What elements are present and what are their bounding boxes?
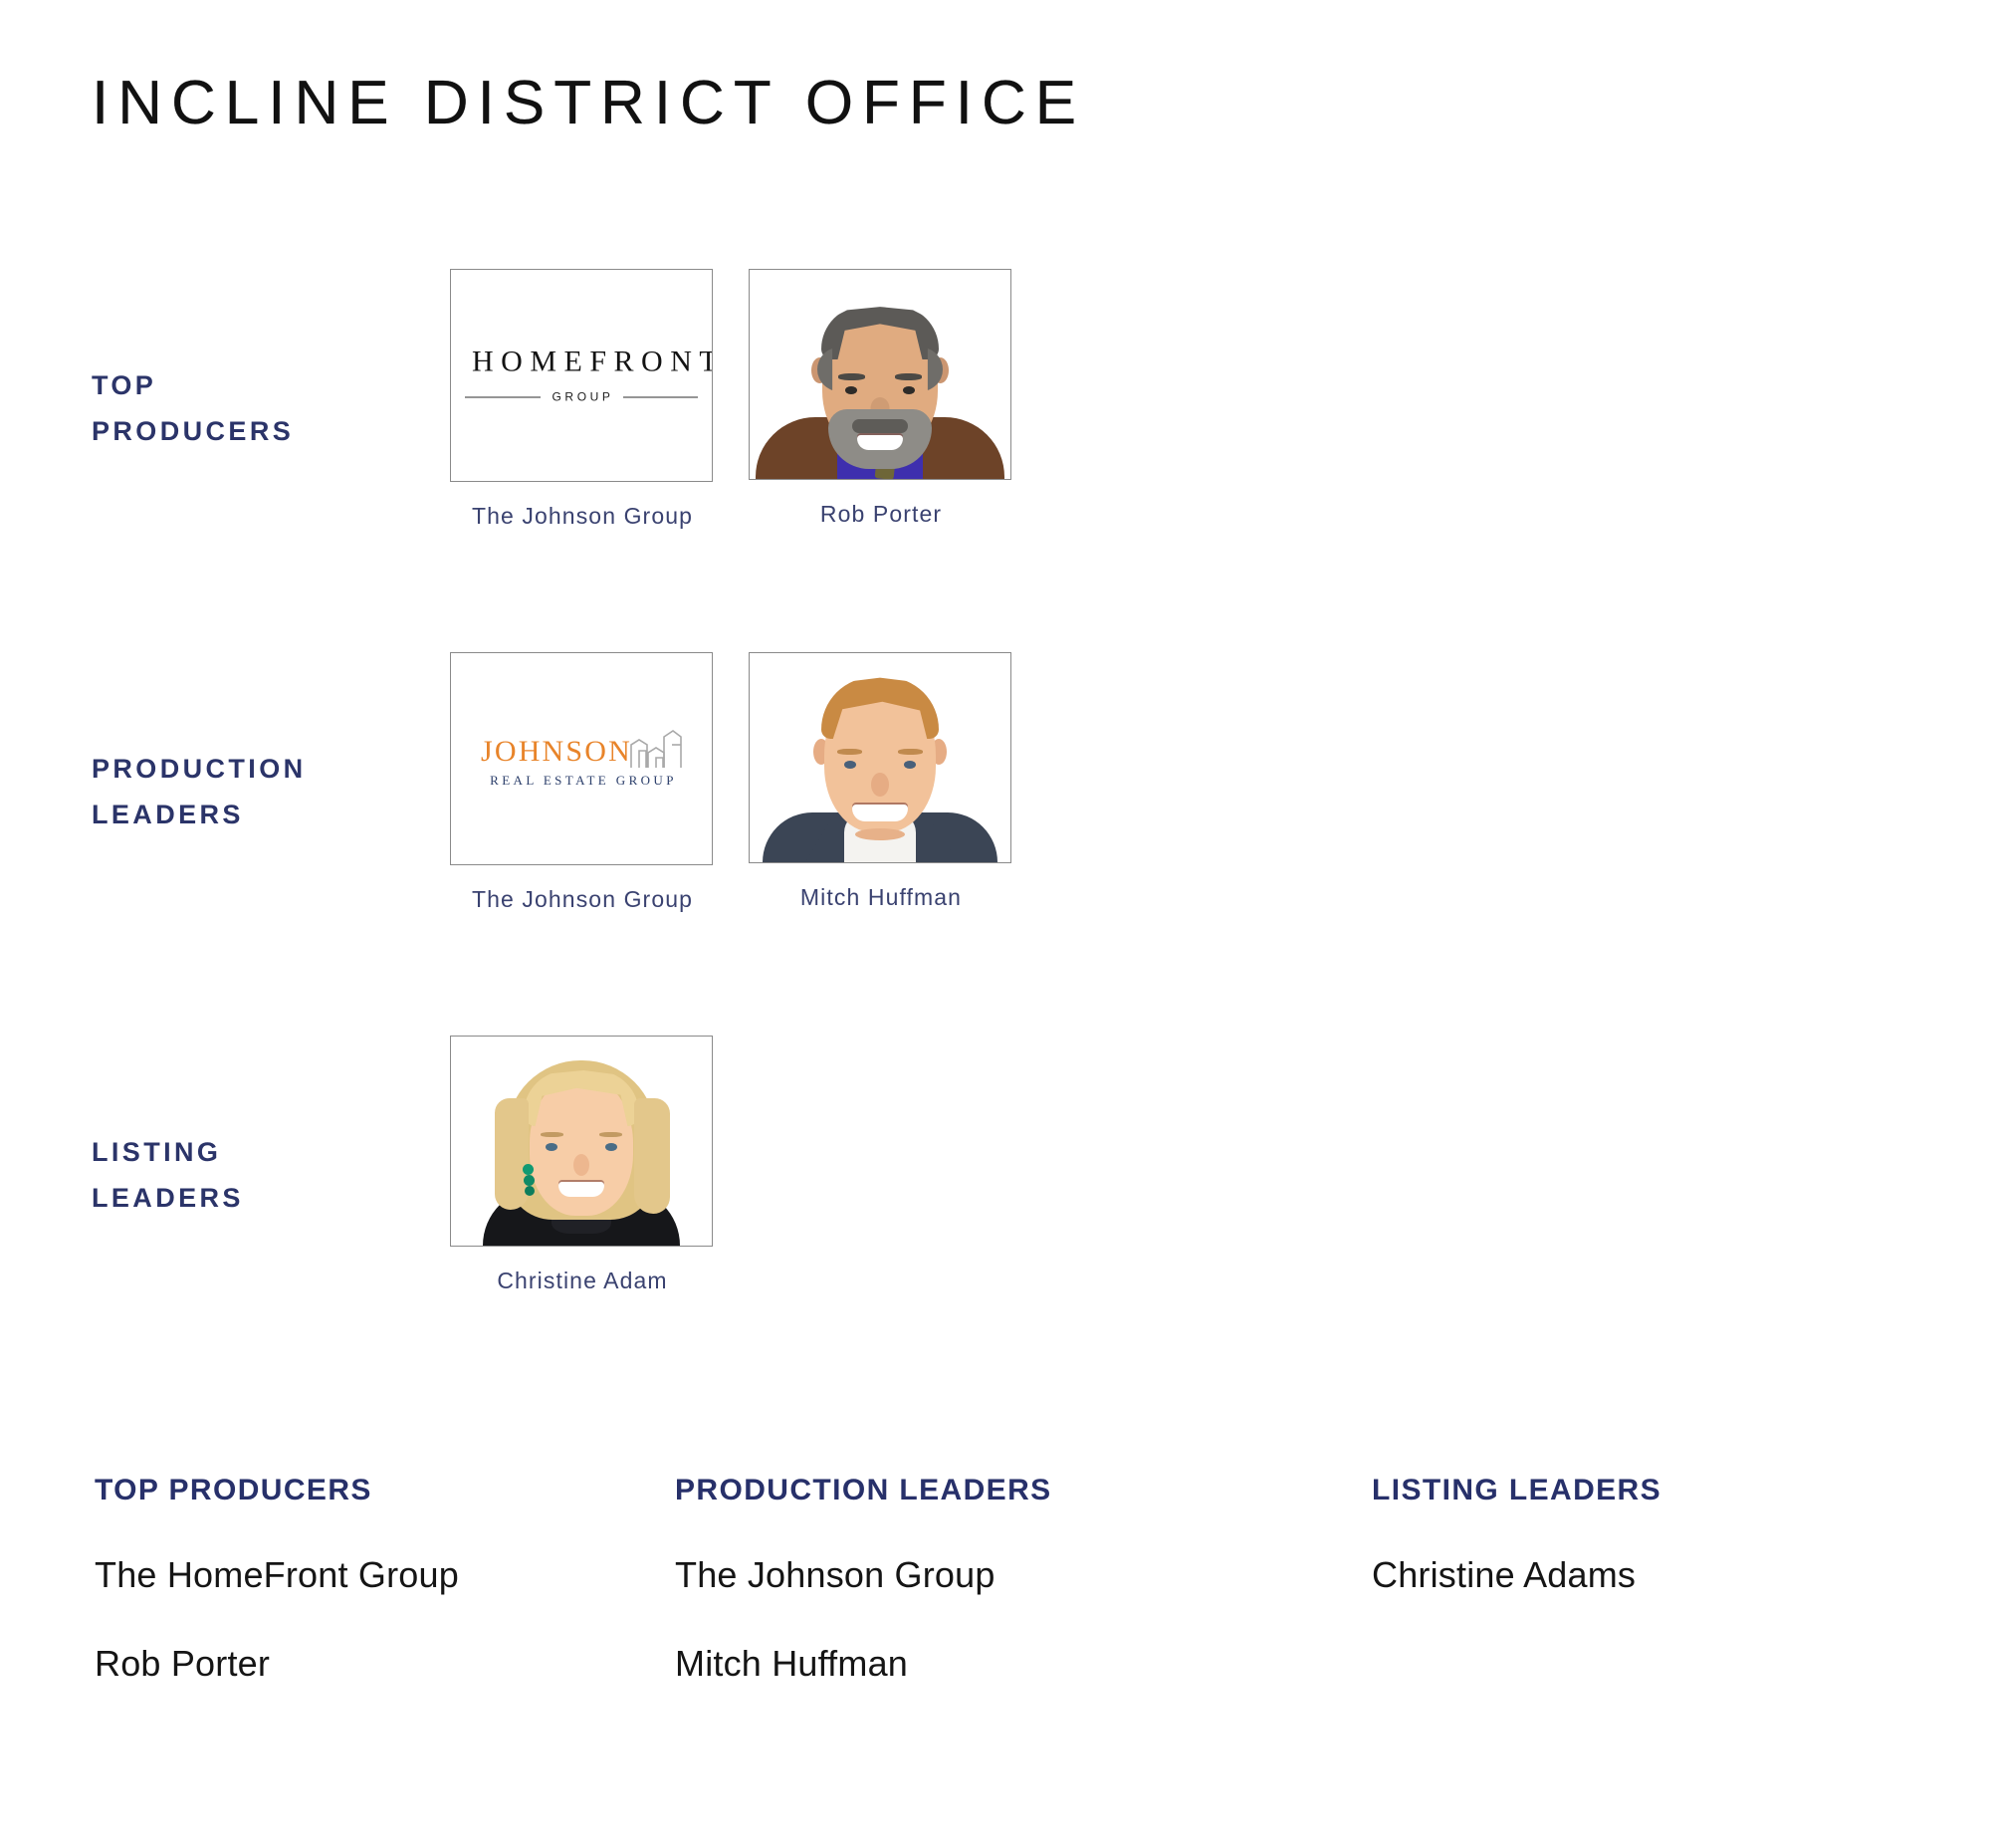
headshot-rob-porter [750,270,1010,479]
headshot-christine-adam [451,1037,712,1246]
earring-icon [523,1164,534,1175]
johnson-logo-wordmark: JOHNSON [481,737,632,767]
row-label-listing-leaders: LISTING LEADERS [92,1129,420,1222]
summary-list-item: The HomeFront Group [95,1554,459,1596]
award-card[interactable]: Christine Adam [450,1036,715,1297]
page-title: INCLINE DISTRICT OFFICE [92,68,1085,138]
johnson-logo-subline: REAL ESTATE GROUP [463,773,700,789]
summary-column-production-leaders: PRODUCTION LEADERS The Johnson Group Mit… [675,1474,1052,1685]
summary-heading: TOP PRODUCERS [95,1474,459,1507]
award-card[interactable]: Rob Porter [749,269,1013,531]
row-label-line-1: PRODUCTION [92,746,420,792]
row-label-line-2: PRODUCERS [92,408,420,454]
row-label-production-leaders: PRODUCTION LEADERS [92,746,420,838]
card-caption: Rob Porter [749,499,1013,531]
homefront-logo-wordmark: HOMEFRONT [465,347,698,377]
photo-tile [749,652,1011,863]
rule-right-icon [623,396,699,397]
homefront-group-logo-icon: HOMEFRONT GROUP [451,347,712,404]
logo-tile: JOHNSON REAL ESTATE G [450,652,713,865]
row-label-line-2: LEADERS [92,1175,420,1221]
summary-list-item: The Johnson Group [675,1554,1052,1596]
johnson-real-estate-group-logo-icon: JOHNSON REAL ESTATE G [451,729,712,789]
award-card[interactable]: JOHNSON REAL ESTATE G [450,652,715,916]
homefront-logo-subline: GROUP [465,390,698,404]
card-caption: Mitch Huffman [749,882,1013,914]
row-label-top-producers: TOP PRODUCERS [92,362,420,455]
homefront-logo-group-text: GROUP [550,390,614,404]
card-caption: The Johnson Group [450,501,715,533]
card-caption: Christine Adam [450,1266,715,1297]
row-label-line-1: TOP [92,362,420,408]
award-card[interactable]: HOMEFRONT GROUP The Johnson Group [450,269,715,533]
buildings-icon [630,729,682,769]
summary-heading: LISTING LEADERS [1372,1474,1661,1507]
row-label-line-2: LEADERS [92,792,420,837]
award-card[interactable]: Mitch Huffman [749,652,1013,914]
photo-tile [749,269,1011,480]
photo-tile [450,1036,713,1247]
row-label-line-1: LISTING [92,1129,420,1175]
logo-tile: HOMEFRONT GROUP [450,269,713,482]
summary-list-item: Christine Adams [1372,1554,1661,1596]
rule-left-icon [465,396,541,397]
summary-column-listing-leaders: LISTING LEADERS Christine Adams [1372,1474,1661,1596]
summary-column-top-producers: TOP PRODUCERS The HomeFront Group Rob Po… [95,1474,459,1685]
card-caption: The Johnson Group [450,884,715,916]
summary-list-item: Mitch Huffman [675,1643,1052,1685]
headshot-mitch-huffman [750,653,1010,862]
summary-heading: PRODUCTION LEADERS [675,1474,1052,1507]
summary-list-item: Rob Porter [95,1643,459,1685]
